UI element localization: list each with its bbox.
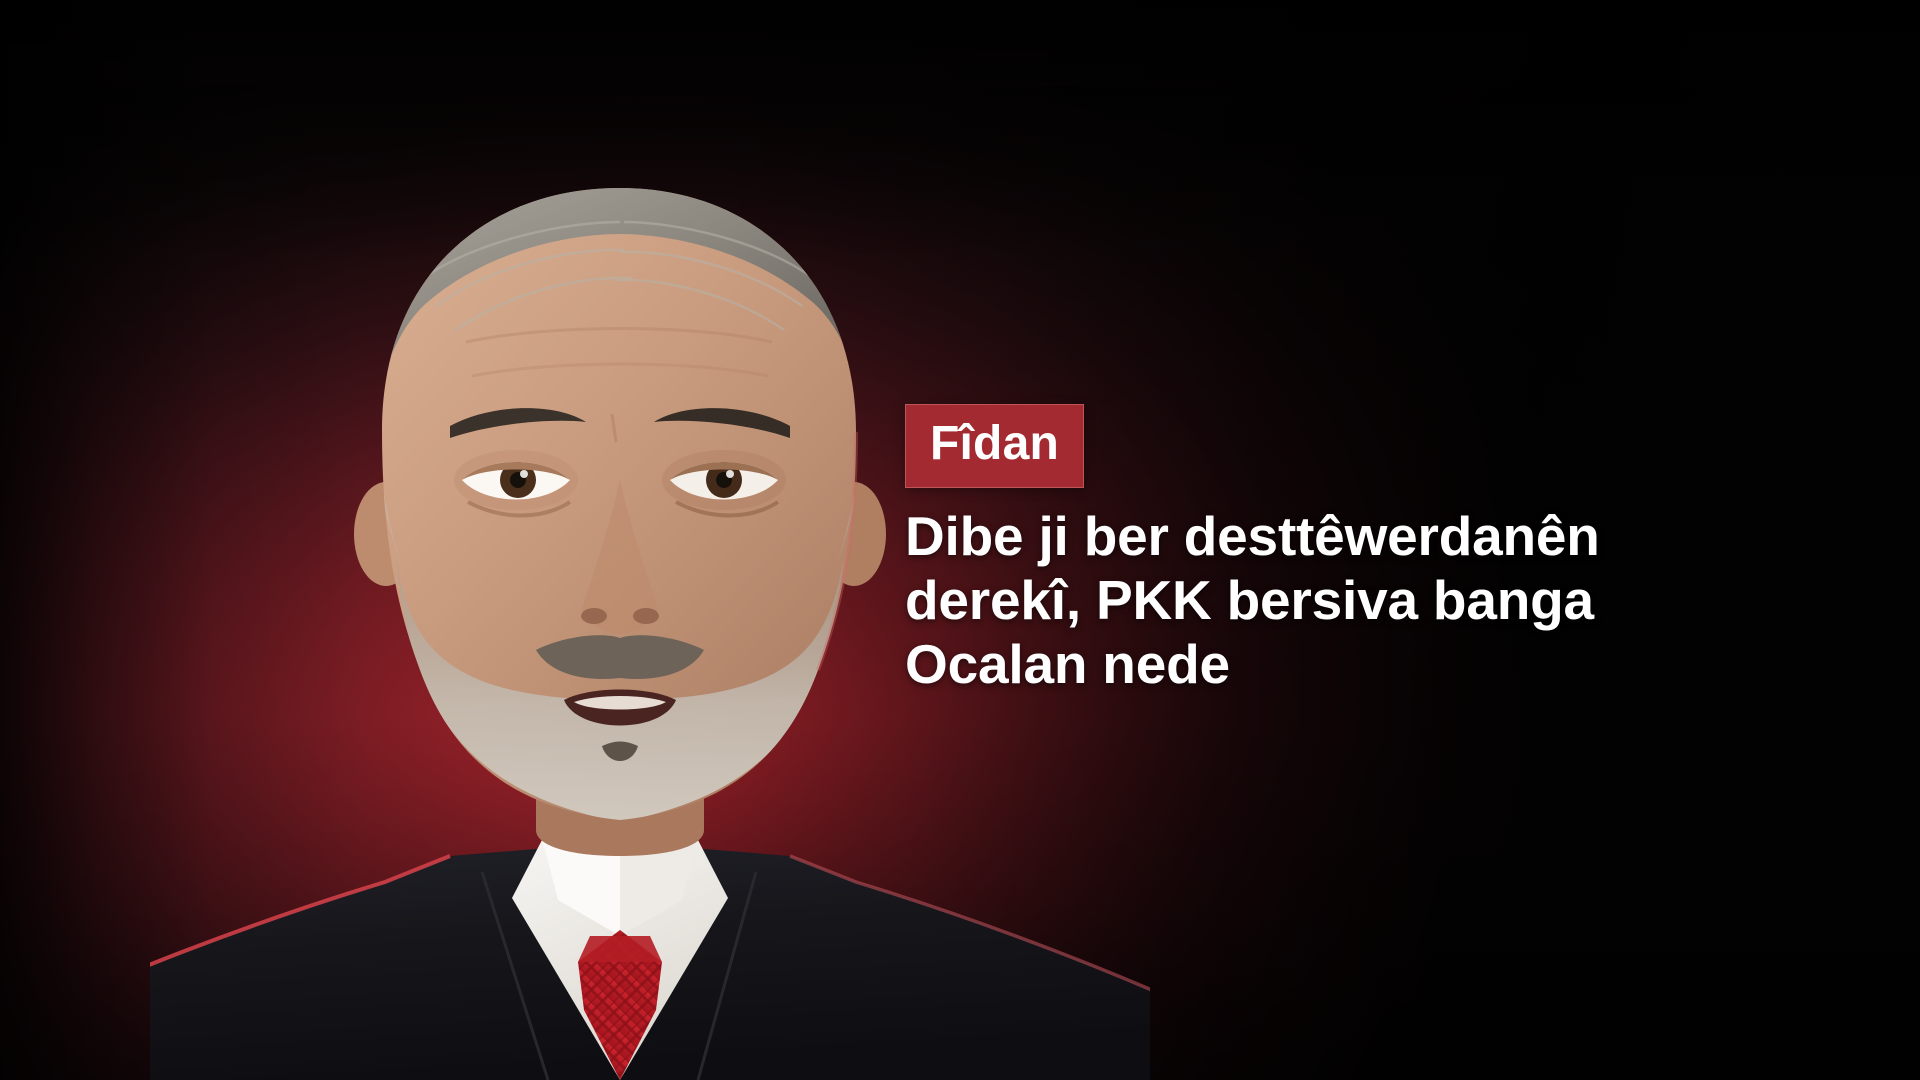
- headline: Dibe ji ber desttêwerdanên derekî, PKK b…: [905, 504, 1735, 696]
- headline-line-1: Dibe ji ber desttêwerdanên: [905, 504, 1735, 568]
- headline-line-3: Ocalan nede: [905, 632, 1735, 696]
- speaker-name-badge: Fîdan: [905, 404, 1084, 488]
- caption-block: Fîdan Dibe ji ber desttêwerdanên derekî,…: [905, 404, 1785, 696]
- headline-line-2: derekî, PKK bersiva banga: [905, 568, 1735, 632]
- subject-head: [354, 166, 886, 822]
- news-graphic-canvas: Fîdan Dibe ji ber desttêwerdanên derekî,…: [0, 0, 1920, 1080]
